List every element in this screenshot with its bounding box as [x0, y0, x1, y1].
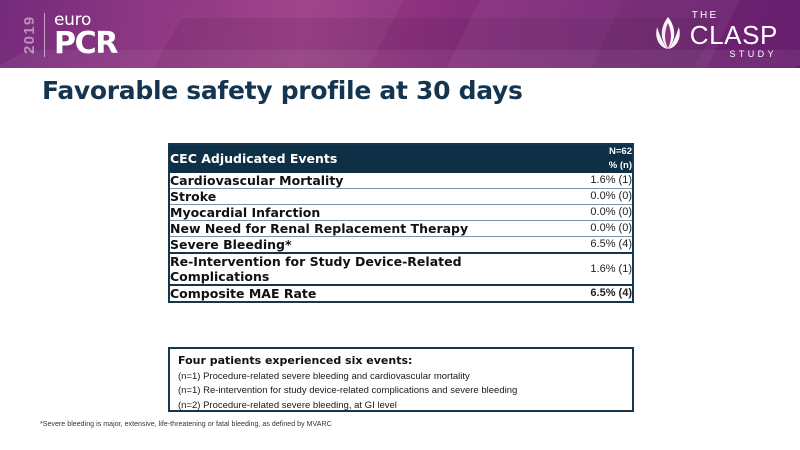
event-value: 6.5% (4)	[546, 236, 633, 253]
events-detail-box: Four patients experienced six events: (n…	[168, 347, 634, 412]
event-label: Composite MAE Rate	[169, 285, 546, 302]
table-head: CEC Adjudicated Events N=62 % (n)	[169, 144, 633, 173]
table-row: Stroke0.0% (0)	[169, 188, 633, 204]
logo-year-label: 2019	[22, 12, 37, 58]
table-row: Cardiovascular Mortality1.6% (1)	[169, 173, 633, 189]
clasp-wordmark: THE CLASP STUDY	[690, 11, 778, 59]
event-value: 0.0% (0)	[546, 220, 633, 236]
event-value: 1.6% (1)	[546, 173, 633, 189]
table-row: New Need for Renal Replacement Therapy0.…	[169, 220, 633, 236]
cec-adjudicated-events-table: CEC Adjudicated Events N=62 % (n) Cardio…	[168, 143, 634, 303]
europcr-logo-wordmark: euro PCR	[54, 12, 117, 58]
clasp-study-logo: THE CLASP STUDY	[653, 11, 778, 59]
events-detail-title: Four patients experienced six events:	[178, 354, 632, 367]
event-value: 0.0% (0)	[546, 188, 633, 204]
event-value: 6.5% (4)	[546, 285, 633, 302]
events-detail-line: (n=2) Procedure-related severe bleeding,…	[178, 399, 632, 413]
header-facet-shape	[118, 18, 722, 68]
table-body: Cardiovascular Mortality1.6% (1)Stroke0.…	[169, 173, 633, 302]
event-value: 0.0% (0)	[546, 204, 633, 220]
event-label: Stroke	[169, 188, 546, 204]
severe-bleeding-footnote: *Severe bleeding is major, extensive, li…	[40, 421, 332, 428]
table-row: Severe Bleeding*6.5% (4)	[169, 236, 633, 253]
logo-divider	[44, 13, 45, 57]
event-label: Severe Bleeding*	[169, 236, 546, 253]
column-header-n-unit: % (n)	[546, 159, 632, 173]
table-row: Re-Intervention for Study Device-Related…	[169, 253, 633, 285]
header-band: 2019 euro PCR THE CLASP STUDY	[0, 0, 800, 68]
column-header-n-total: N=62	[546, 145, 632, 159]
table-header-row: CEC Adjudicated Events N=62 % (n)	[169, 144, 633, 173]
table-row: Myocardial Infarction0.0% (0)	[169, 204, 633, 220]
event-value: 1.6% (1)	[546, 253, 633, 285]
events-detail-line: (n=1) Re-intervention for study device-r…	[178, 384, 632, 398]
clasp-study-text: STUDY	[690, 50, 777, 59]
event-label: New Need for Renal Replacement Therapy	[169, 220, 546, 236]
events-detail-lines: (n=1) Procedure-related severe bleeding …	[178, 370, 632, 413]
clasp-name-text: CLASP	[690, 22, 778, 48]
table-row: Composite MAE Rate6.5% (4)	[169, 285, 633, 302]
events-detail-line: (n=1) Procedure-related severe bleeding …	[178, 370, 632, 384]
column-header-n: N=62 % (n)	[546, 144, 633, 173]
page-title: Favorable safety profile at 30 days	[42, 76, 523, 105]
event-label: Re-Intervention for Study Device-Related…	[169, 253, 546, 285]
tulip-petal-icon	[653, 14, 683, 57]
event-label: Cardiovascular Mortality	[169, 173, 546, 189]
event-label: Myocardial Infarction	[169, 204, 546, 220]
europcr-logo: 2019 euro PCR	[22, 10, 117, 60]
logo-pcr-text: PCR	[54, 30, 117, 58]
column-header-events: CEC Adjudicated Events	[169, 144, 546, 173]
